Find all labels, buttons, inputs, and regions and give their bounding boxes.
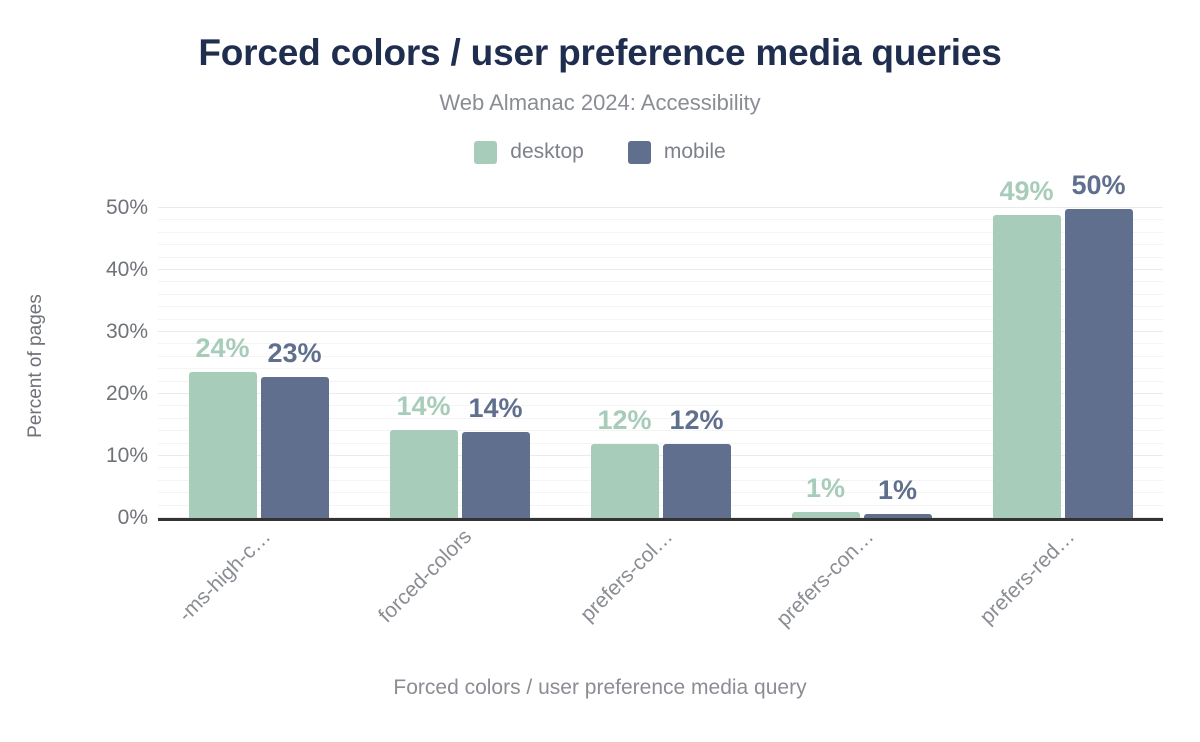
- x-axis-ticks: -ms-high-c…forced-colorsprefers-col…pref…: [158, 525, 1163, 655]
- chart-figure: Forced colors / user preference media qu…: [0, 0, 1200, 742]
- y-axis-tick-label: 50%: [106, 196, 148, 220]
- y-axis-ticks: 0%10%20%30%40%50%: [60, 208, 148, 518]
- bar-value-label: 24%: [183, 333, 263, 364]
- y-axis-tick-label: 0%: [118, 506, 148, 530]
- bar-value-label: 12%: [657, 405, 737, 436]
- bar-value-label: 1%: [786, 473, 866, 504]
- legend-swatch-icon: [474, 141, 497, 164]
- bar-mobile[interactable]: [864, 514, 932, 518]
- bar-desktop[interactable]: [189, 372, 257, 518]
- bar-desktop[interactable]: [390, 430, 458, 518]
- x-axis-tick-label: -ms-high-c…: [117, 525, 275, 683]
- bar-mobile[interactable]: [1065, 209, 1133, 518]
- bar-value-label: 14%: [456, 393, 536, 424]
- x-axis-tick-label: prefers-col…: [519, 525, 677, 683]
- bar-group: 49%50%: [993, 208, 1133, 518]
- x-axis-tick-label: prefers-red…: [921, 525, 1079, 683]
- bar-group: 1%1%: [792, 208, 932, 518]
- x-axis-title: Forced colors / user preference media qu…: [0, 676, 1200, 700]
- legend-item-mobile[interactable]: mobile: [628, 140, 726, 164]
- y-axis-tick-label: 40%: [106, 258, 148, 282]
- bar-value-label: 14%: [384, 391, 464, 422]
- bar-value-label: 50%: [1059, 170, 1139, 201]
- chart-title: Forced colors / user preference media qu…: [0, 32, 1200, 74]
- bar-group: 24%23%: [189, 208, 329, 518]
- bar-desktop[interactable]: [792, 512, 860, 518]
- bar-group: 12%12%: [591, 208, 731, 518]
- chart-legend: desktopmobile: [0, 140, 1200, 164]
- y-axis-title: Percent of pages: [25, 266, 47, 466]
- x-axis-tick-label: forced-colors: [318, 525, 476, 683]
- x-axis-tick-label: prefers-con…: [720, 525, 878, 683]
- bar-value-label: 12%: [585, 405, 665, 436]
- bar-mobile[interactable]: [663, 444, 731, 518]
- bar-desktop[interactable]: [993, 215, 1061, 518]
- bar-value-label: 49%: [987, 176, 1067, 207]
- bar-desktop[interactable]: [591, 444, 659, 518]
- bar-group: 14%14%: [390, 208, 530, 518]
- y-axis-tick-label: 20%: [106, 382, 148, 406]
- bars-layer: 24%23%14%14%12%12%1%1%49%50%: [158, 208, 1163, 518]
- legend-item-desktop[interactable]: desktop: [474, 140, 584, 164]
- bar-value-label: 23%: [255, 338, 335, 369]
- zero-axis-line: [158, 518, 1163, 521]
- bar-mobile[interactable]: [462, 432, 530, 518]
- bar-mobile[interactable]: [261, 377, 329, 518]
- legend-label: mobile: [664, 140, 726, 164]
- y-axis-tick-label: 30%: [106, 320, 148, 344]
- legend-swatch-icon: [628, 141, 651, 164]
- chart-subtitle: Web Almanac 2024: Accessibility: [0, 90, 1200, 116]
- legend-label: desktop: [510, 140, 584, 164]
- bar-value-label: 1%: [858, 475, 938, 506]
- y-axis-tick-label: 10%: [106, 444, 148, 468]
